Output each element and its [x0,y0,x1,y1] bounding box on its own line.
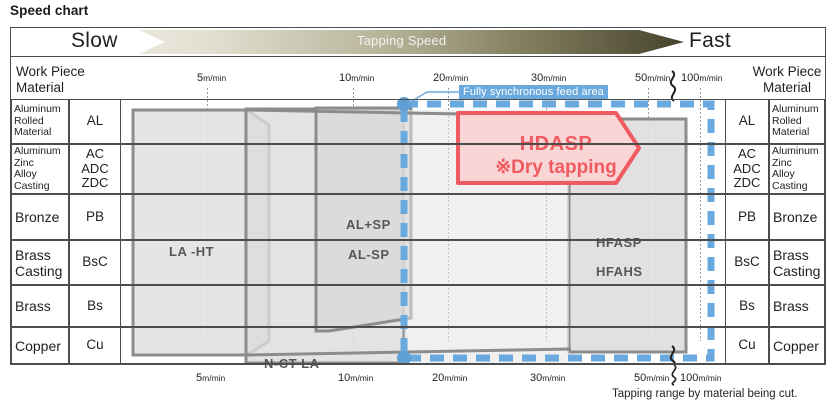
plot-row-3 [121,240,725,285]
tick-top-100-value: 100 [681,72,699,84]
wp-left-line1: Work Piece [16,64,121,80]
material-name-left-4: Brass [11,285,69,327]
tick-top-50-value: 50 [635,72,647,84]
speed-chart-page: Speed chart Slow [0,0,837,419]
material-code-left-5-v: Cu [86,338,103,353]
tick-top-20-value: 20 [433,72,445,84]
tick-bottom-30-value: 30 [530,372,542,384]
material-name-left-2: Bronze [11,194,69,240]
material-name-left-0-l3: Material [14,127,61,139]
wp-right-line1: Work Piece [733,64,837,80]
tick-top-100-unit: m/min [699,73,722,83]
material-name-left-1-l1: Aluminum [14,146,61,158]
page-title: Speed chart [10,3,88,18]
material-name-right-5-l1: Copper [773,338,819,354]
axis-break-squiggle-top [671,71,675,101]
header-divider-top [11,56,825,57]
axis-break-squiggle-bottom-outer [663,364,683,386]
material-name-right-4: Brass [769,285,825,327]
material-code-left-3: BsC [69,240,121,285]
material-code-left-0-v: AL [87,114,104,129]
material-name-left-4-l1: Brass [15,298,51,314]
material-name-right-5: Copper [769,327,825,364]
material-code-right-1-v1: ADC [726,162,768,177]
material-code-right-2: PB [725,194,769,240]
fully-synchronous-feed-area-callout: Fully synchronous feed area [459,85,608,100]
tick-bottom-10-value: 10 [338,372,350,384]
material-code-left-4-v: Bs [87,299,103,314]
tick-bottom-20-value: 20 [432,372,444,384]
material-code-right-2-v: PB [738,210,756,225]
material-name-left-2-l1: Bronze [15,209,59,225]
tick-bottom-20: 20m/min [432,372,467,384]
material-code-left-4: Bs [69,285,121,327]
material-code-right-3-v: BsC [734,255,760,270]
material-code-left-2-v: PB [86,210,104,225]
tick-top-5-unit: m/min [203,73,226,83]
material-name-left-5-l1: Copper [15,338,61,354]
tick-top-50-unit: m/min [647,73,670,83]
tick-bottom-100: 100m/min [680,372,722,384]
tick-top-30: 30m/min [531,72,566,84]
material-name-right-0: Aluminum Rolled Material [769,99,825,144]
material-code-right-0-v: AL [739,114,756,129]
plot-row-2 [121,194,725,240]
tick-top-30-unit: m/min [543,73,566,83]
material-code-left-3-v: BsC [82,255,108,270]
plot-row-5 [121,327,725,364]
material-name-left-5: Copper [11,327,69,364]
material-code-right-1: AC ADC ZDC [725,144,769,194]
material-code-right-1-v0: AC [726,147,768,162]
wp-right-line2: Material [733,80,837,96]
material-name-left-1-l3: Alloy [14,169,61,181]
material-code-left-0: AL [69,99,121,144]
plot-row-0 [121,99,725,144]
material-code-right-1-v2: ZDC [726,176,768,191]
tick-bottom-30: 30m/min [530,372,565,384]
material-name-left-3: Brass Casting [11,240,69,285]
material-name-right-1-l3: Alloy [772,169,819,181]
material-name-right-3-l1: Brass [773,247,820,263]
material-name-right-3: Brass Casting [769,240,825,285]
tick-top-20-unit: m/min [445,73,468,83]
tick-top-10-value: 10 [339,72,351,84]
chart-frame: Slow Tapping Speed Fas [10,27,826,365]
tick-bottom-10-unit: m/min [350,373,373,383]
work-piece-material-header-right: Work Piece Material [733,64,837,96]
material-name-right-0-l3: Material [772,127,819,139]
work-piece-material-header-left: Work Piece Material [16,64,121,96]
material-code-left-1: AC ADC ZDC [69,144,121,194]
tick-top-10: 10m/min [339,72,374,84]
material-code-right-4-v: Bs [739,299,755,314]
speed-arrow-band: Slow Tapping Speed Fas [11,28,825,56]
tick-bottom-5-unit: m/min [202,373,225,383]
tick-bottom-100-unit: m/min [698,373,721,383]
plot-row-4 [121,285,725,327]
material-code-right-5: Cu [725,327,769,364]
material-name-left-1-l4: Casting [14,181,61,193]
tick-bottom-50-value: 50 [634,372,646,384]
material-code-left-1-v2: ZDC [70,176,120,191]
wp-left-line2: Material [16,80,121,96]
tick-bottom-20-unit: m/min [444,373,467,383]
fast-label: Fast [689,29,731,53]
material-name-right-1-l1: Aluminum [772,146,819,158]
tick-top-100: 100m/min [681,72,723,84]
slow-label: Slow [71,29,118,53]
material-name-left-3-l1: Brass [15,247,62,263]
material-code-left-1-v1: ADC [70,162,120,177]
material-code-right-0: AL [725,99,769,144]
material-name-right-2: Bronze [769,194,825,240]
tick-bottom-5: 5m/min [196,372,225,384]
plot-row-1 [121,144,725,194]
tick-top-50: 50m/min [635,72,670,84]
material-code-right-3: BsC [725,240,769,285]
tick-bottom-10: 10m/min [338,372,373,384]
material-code-left-2: PB [69,194,121,240]
tick-top-20: 20m/min [433,72,468,84]
material-name-left-1: Aluminum Zinc Alloy Casting [11,144,69,194]
material-name-right-4-l1: Brass [773,298,809,314]
tick-top-5: 5m/min [197,72,226,84]
tick-top-30-value: 30 [531,72,543,84]
material-name-right-3-l2: Casting [773,263,820,279]
tapping-speed-axis-title: Tapping Speed [357,33,446,48]
material-code-left-1-v0: AC [70,147,120,162]
material-code-left-5: Cu [69,327,121,364]
footnote: Tapping range by material being cut. [612,388,797,400]
material-name-left-0: Aluminum Rolled Material [11,99,69,144]
tick-bottom-30-unit: m/min [542,373,565,383]
tick-top-10-unit: m/min [351,73,374,83]
material-code-right-5-v: Cu [738,338,755,353]
material-name-left-3-l2: Casting [15,263,62,279]
material-code-right-4: Bs [725,285,769,327]
material-name-right-1-l4: Casting [772,181,819,193]
material-name-right-2-l1: Bronze [773,209,817,225]
material-name-right-1: Aluminum Zinc Alloy Casting [769,144,825,194]
